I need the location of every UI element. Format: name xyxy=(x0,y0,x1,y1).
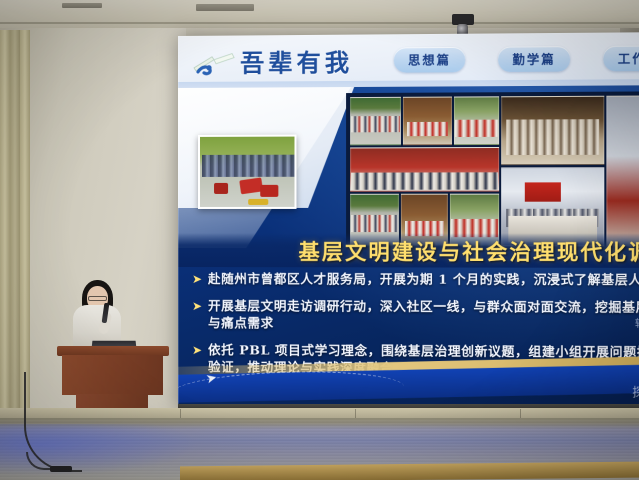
photo-mat xyxy=(248,199,268,205)
photo-crowd xyxy=(202,155,297,177)
tab-sixiang[interactable]: 思想篇 xyxy=(394,47,465,73)
page-title: 吾辈有我 xyxy=(240,43,353,79)
glasses-icon xyxy=(88,296,107,301)
first-aid-training-photo xyxy=(198,135,297,209)
ceiling-seam xyxy=(0,22,639,24)
tab-gongzuo[interactable]: 工作篇 xyxy=(603,45,639,71)
ceiling-vent xyxy=(196,4,254,11)
bullet-line: 赴随州市曾都区人才服务局，开展为期 1 个月的实践，沉浸式了解基层人才工 xyxy=(208,270,639,288)
slide-tab-bar: 思想篇 勤学篇 工作篇 xyxy=(394,45,639,72)
corner-mark-text: 探 xyxy=(632,383,639,400)
side-note-text: 转 xyxy=(630,318,639,329)
ceiling-vent xyxy=(62,3,102,8)
list-item: ➤ 开展基层文明走访调研行动，深入社区一线，与群众面对面交流，挖掘基层文 与痛点… xyxy=(192,297,639,333)
bullet-line: 开展基层文明走访调研行动，深入社区一线，与群众面对面交流，挖掘基层文 xyxy=(208,297,639,316)
slide-headline: 基层文明建设与社会治理现代化调查 xyxy=(299,236,639,267)
collage-photo xyxy=(403,97,452,146)
arrow-bullet-icon: ➤ xyxy=(192,344,202,356)
floor-plug xyxy=(50,466,72,472)
photo-collage xyxy=(346,91,639,250)
collage-photo xyxy=(606,96,639,247)
collage-photo xyxy=(350,97,401,146)
bullet-line-cont: 与痛点需求 xyxy=(208,314,639,333)
collage-photo xyxy=(350,147,499,192)
photo-figure xyxy=(214,183,228,194)
arrow-bullet-icon: ➤ xyxy=(192,300,202,312)
tab-qinxue[interactable]: 勤学篇 xyxy=(498,46,570,72)
collage-photo xyxy=(501,96,604,165)
photo-figure xyxy=(260,185,278,197)
slide-header: 吾辈有我 思想篇 勤学篇 工作篇 xyxy=(178,32,639,88)
collage-photo xyxy=(454,96,499,145)
lecture-hall-scene: 吾辈有我 思想篇 勤学篇 工作篇 xyxy=(0,0,639,480)
open-book-icon xyxy=(192,50,236,76)
list-item: ➤ 赴随州市曾都区人才服务局，开展为期 1 个月的实践，沉浸式了解基层人才工 xyxy=(192,270,639,288)
photo-red-screen xyxy=(524,182,560,202)
arrow-bullet-icon: ➤ xyxy=(192,273,202,285)
projection-screen: 吾辈有我 思想篇 勤学篇 工作篇 xyxy=(178,32,639,411)
slide-body: 基层文明建设与社会治理现代化调查 ➤ 赴随州市曾都区人才服务局，开展为期 1 个… xyxy=(178,85,639,411)
stage-curtain xyxy=(0,30,30,430)
